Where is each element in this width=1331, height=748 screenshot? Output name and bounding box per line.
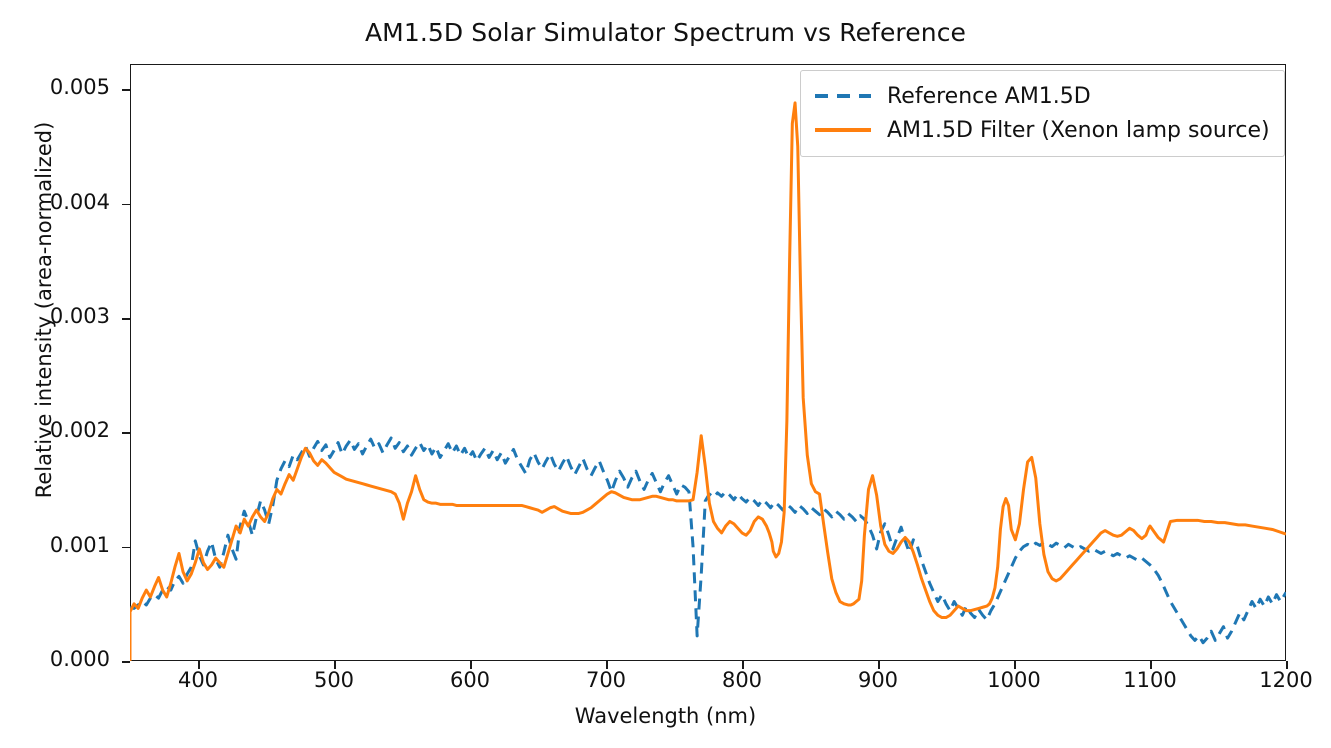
legend-item-filter[interactable]: AM1.5D Filter (Xenon lamp source): [813, 113, 1272, 147]
chart-figure: AM1.5D Solar Simulator Spectrum vs Refer…: [0, 0, 1331, 748]
legend-item-reference[interactable]: Reference AM1.5D: [813, 79, 1272, 113]
y-tick-mark: [122, 89, 130, 91]
y-tick-label: 0.004: [0, 190, 110, 214]
y-tick-mark: [122, 432, 130, 434]
x-tick-mark: [1150, 661, 1152, 669]
x-tick-mark: [470, 661, 472, 669]
legend-label-reference: Reference AM1.5D: [887, 84, 1091, 109]
x-tick-label: 800: [682, 668, 802, 692]
y-tick-label: 0.001: [0, 533, 110, 557]
x-tick-mark: [606, 661, 608, 669]
x-tick-label: 900: [818, 668, 938, 692]
legend-swatch-solid-line-icon: [813, 120, 873, 140]
y-tick-mark: [122, 661, 130, 663]
x-tick-label: 1200: [1226, 668, 1331, 692]
x-tick-mark: [878, 661, 880, 669]
y-tick-label: 0.002: [0, 418, 110, 442]
page-title: AM1.5D Solar Simulator Spectrum vs Refer…: [0, 18, 1331, 47]
x-tick-label: 700: [546, 668, 666, 692]
legend-swatch-dashed-line-icon: [813, 86, 873, 106]
legend: Reference AM1.5D AM1.5D Filter (Xenon la…: [800, 70, 1285, 157]
x-tick-mark: [334, 661, 336, 669]
x-tick-label: 600: [410, 668, 530, 692]
x-tick-label: 500: [274, 668, 394, 692]
y-tick-mark: [122, 547, 130, 549]
x-axis-label: Wavelength (nm): [0, 704, 1331, 728]
x-tick-mark: [1014, 661, 1016, 669]
x-tick-label: 1000: [954, 668, 1074, 692]
x-tick-mark: [742, 661, 744, 669]
legend-label-filter: AM1.5D Filter (Xenon lamp source): [887, 118, 1270, 143]
x-tick-label: 400: [138, 668, 258, 692]
x-tick-mark: [198, 661, 200, 669]
x-tick-mark: [1286, 661, 1288, 669]
y-tick-mark: [122, 318, 130, 320]
y-tick-label: 0.005: [0, 75, 110, 99]
y-tick-mark: [122, 204, 130, 206]
x-tick-label: 1100: [1090, 668, 1210, 692]
y-tick-label: 0.003: [0, 304, 110, 328]
y-tick-label: 0.000: [0, 647, 110, 671]
